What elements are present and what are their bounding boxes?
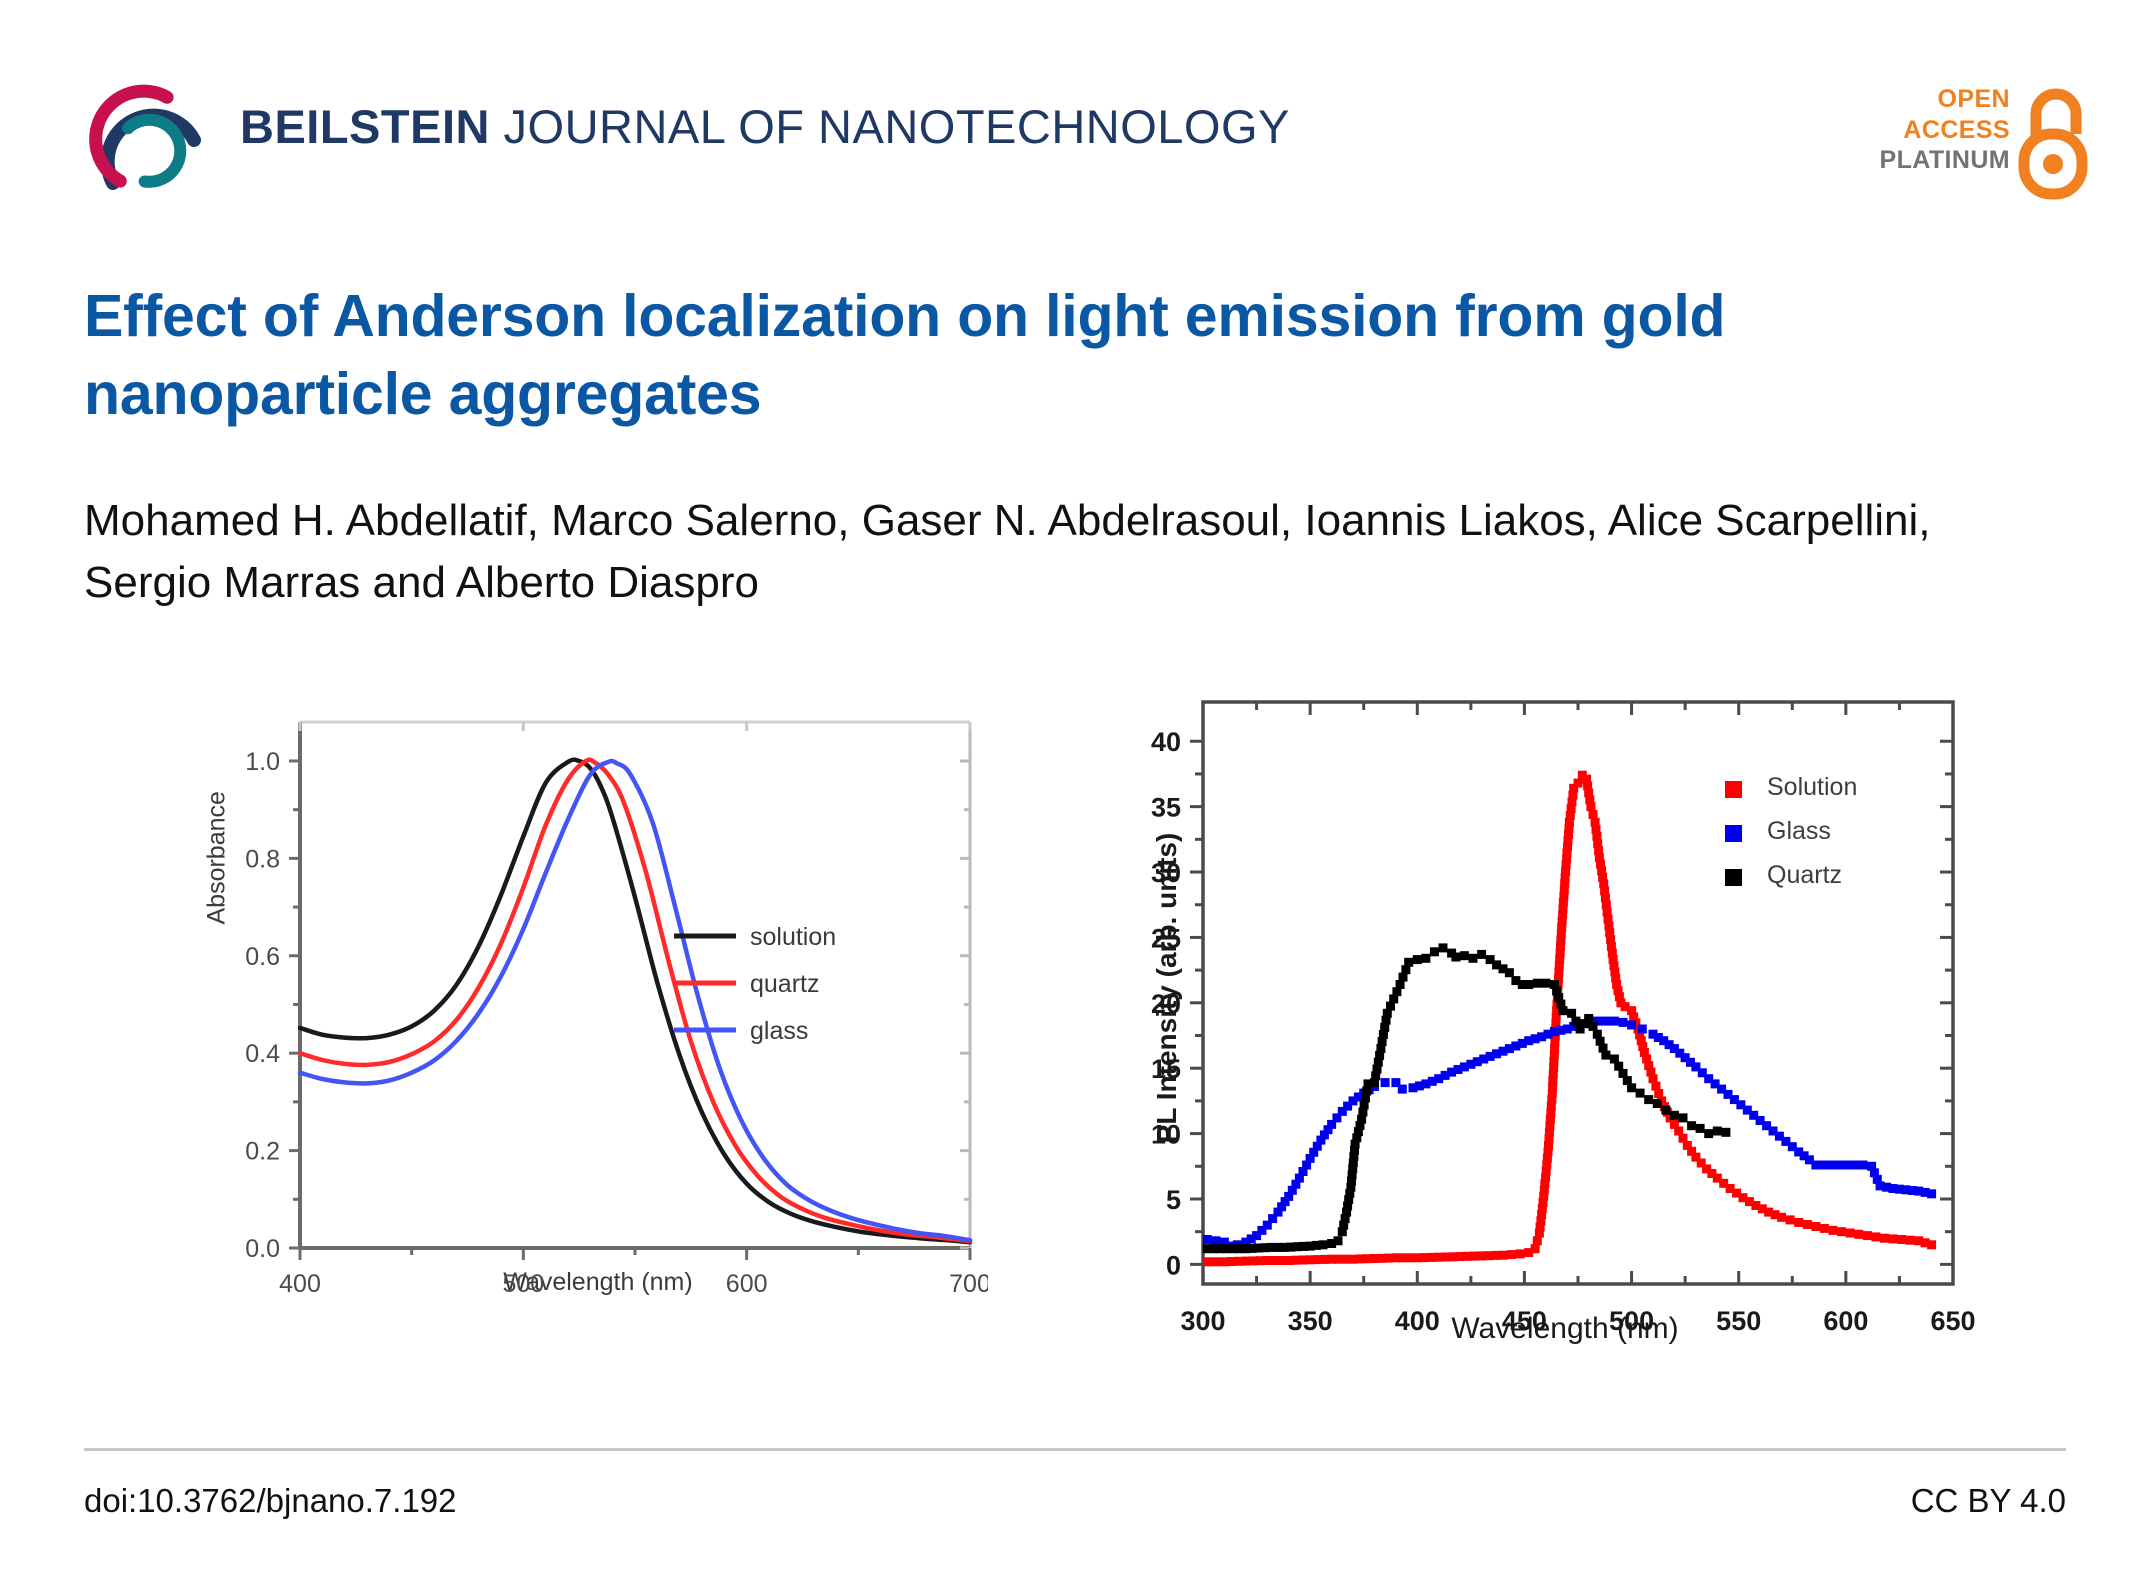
author-list: Mohamed H. Abdellatif, Marco Salerno, Ga…	[84, 490, 2014, 613]
doi-text: doi:10.3762/bjnano.7.192	[84, 1482, 457, 1520]
svg-text:10: 10	[1151, 1120, 1181, 1150]
footer-divider	[84, 1448, 2066, 1451]
svg-text:20: 20	[1151, 989, 1181, 1019]
svg-text:600: 600	[726, 1270, 768, 1298]
svg-text:15: 15	[1151, 1054, 1181, 1084]
svg-text:Quartz: Quartz	[1767, 861, 1842, 889]
license-text: CC BY 4.0	[1911, 1482, 2066, 1520]
svg-text:550: 550	[1716, 1306, 1761, 1336]
svg-text:0.4: 0.4	[245, 1040, 280, 1068]
absorbance-plot: 0.00.20.40.60.81.0400500600700solutionqu…	[208, 700, 988, 1320]
svg-text:0: 0	[1166, 1250, 1181, 1280]
svg-text:300: 300	[1180, 1306, 1225, 1336]
svg-text:450: 450	[1502, 1306, 1547, 1336]
svg-text:0.2: 0.2	[245, 1138, 280, 1166]
svg-text:5: 5	[1166, 1185, 1181, 1215]
open-access-line-3: PLATINUM	[1880, 145, 2011, 176]
open-access-line-1: OPEN	[1880, 84, 2011, 115]
svg-text:500: 500	[502, 1270, 544, 1298]
pl-intensity-chart: PL Intensity (arb. units) Wavelength (nm…	[1085, 672, 1985, 1372]
svg-text:0.0: 0.0	[245, 1235, 280, 1263]
svg-text:35: 35	[1151, 793, 1181, 823]
svg-text:solution: solution	[750, 923, 836, 951]
svg-text:30: 30	[1151, 858, 1181, 888]
open-access-line-2: ACCESS	[1880, 115, 2011, 146]
open-access-labels: OPEN ACCESS PLATINUM	[1880, 84, 2011, 176]
svg-text:650: 650	[1930, 1306, 1975, 1336]
pl-intensity-plot: 0510152025303540300350400450500550600650…	[1085, 672, 1985, 1372]
masthead: BEILSTEIN JOURNAL OF NANOTECHNOLOGY OPEN…	[0, 0, 2150, 230]
svg-text:Solution: Solution	[1767, 773, 1857, 801]
svg-text:0.6: 0.6	[245, 943, 280, 971]
open-access-badge: OPEN ACCESS PLATINUM	[1873, 82, 2088, 202]
svg-text:1.0: 1.0	[245, 748, 280, 776]
svg-text:500: 500	[1609, 1306, 1654, 1336]
svg-text:40: 40	[1151, 727, 1181, 757]
open-lock-icon	[2014, 84, 2092, 205]
page-title: Effect of Anderson localization on light…	[84, 278, 2014, 434]
svg-text:Glass: Glass	[1767, 817, 1831, 845]
svg-text:25: 25	[1151, 923, 1181, 953]
svg-text:350: 350	[1288, 1306, 1333, 1336]
svg-text:0.8: 0.8	[245, 845, 280, 873]
svg-text:400: 400	[1395, 1306, 1440, 1336]
figure-area: Absorbance Wavelength (nm) 0.00.20.40.60…	[0, 660, 2150, 1390]
absorbance-chart: Absorbance Wavelength (nm) 0.00.20.40.60…	[208, 700, 988, 1320]
beilstein-triple-arc-logo	[82, 78, 208, 204]
svg-text:400: 400	[279, 1270, 321, 1298]
svg-text:600: 600	[1823, 1306, 1868, 1336]
journal-title: BEILSTEIN JOURNAL OF NANOTECHNOLOGY	[240, 103, 1290, 150]
journal-title-brand: BEILSTEIN	[240, 100, 490, 153]
svg-text:glass: glass	[750, 1017, 808, 1045]
svg-text:700: 700	[949, 1270, 988, 1298]
svg-text:quartz: quartz	[750, 970, 819, 998]
journal-title-rest: JOURNAL OF NANOTECHNOLOGY	[490, 100, 1290, 153]
